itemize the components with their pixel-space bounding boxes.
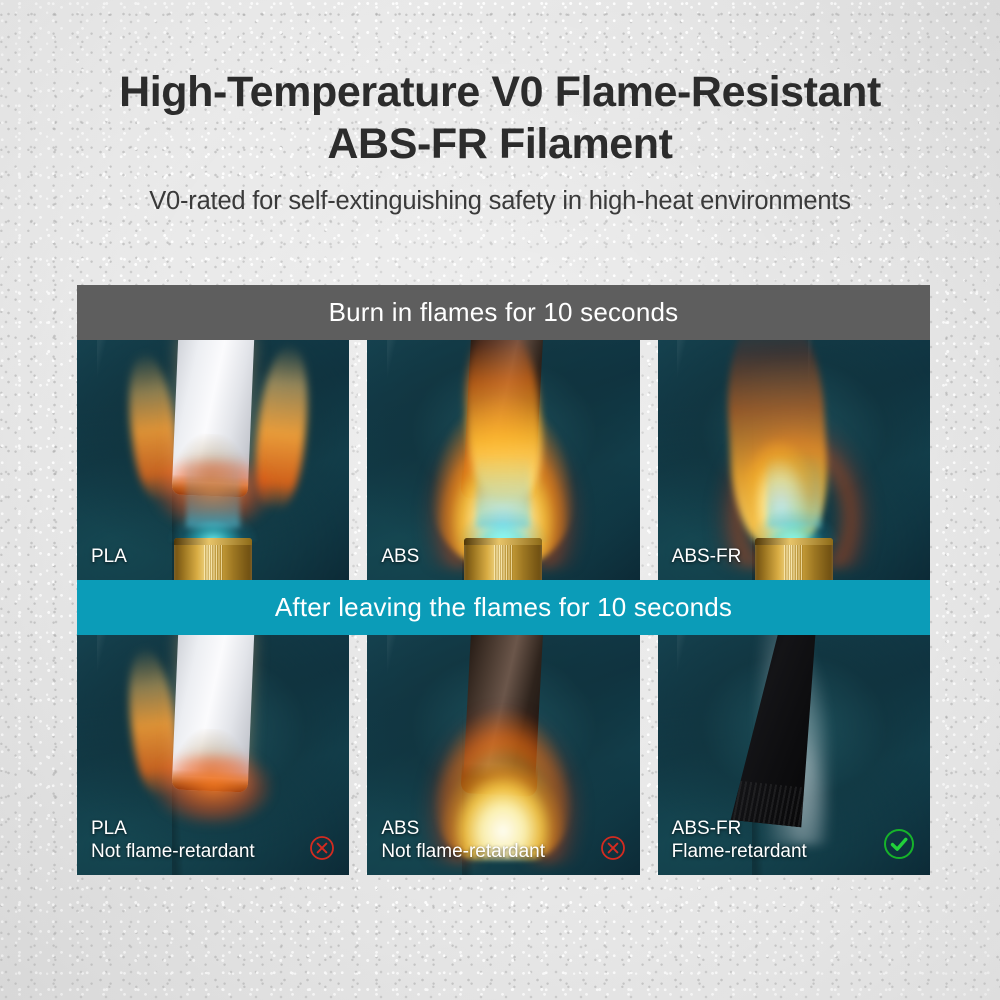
status-badge-fail: [309, 835, 335, 861]
panel-caption: PLA: [91, 545, 127, 568]
panel-material-label: PLA: [91, 818, 127, 839]
circle-x-icon: [600, 835, 626, 861]
panel-bottom-pla: PLA Not flame-retardant: [77, 635, 349, 875]
status-badge-fail: [600, 835, 626, 861]
burner-icon: [174, 538, 252, 580]
panel-row-burning: PLA ABS ABS-FR: [77, 340, 930, 580]
panel-status-label: Not flame-retardant: [381, 840, 545, 863]
panel-material-label: ABS: [381, 818, 419, 839]
page-title-line2: ABS-FR Filament: [0, 118, 1000, 170]
panel-top-abs-fr: ABS-FR: [658, 340, 930, 580]
panel-bottom-abs-fr: ABS-FR Flame-retardant: [658, 635, 930, 875]
panel-top-abs: ABS: [367, 340, 639, 580]
panel-material-label: ABS-FR: [672, 818, 742, 839]
status-badge-pass: [882, 827, 916, 861]
specimen-pla: [172, 635, 255, 793]
circle-x-icon: [309, 835, 335, 861]
page-subtitle: V0-rated for self-extinguishing safety i…: [0, 170, 1000, 216]
panel-caption: ABS-FR Flame-retardant: [672, 817, 807, 863]
page-title-line1: High-Temperature V0 Flame-Resistant: [0, 0, 1000, 118]
panel-status-label: Flame-retardant: [672, 840, 807, 863]
panel-caption: ABS Not flame-retardant: [381, 817, 545, 863]
panel-caption: ABS-FR: [672, 545, 742, 568]
panel-caption: ABS: [381, 545, 419, 568]
burner-flame-icon: [167, 508, 259, 542]
burner-flame-icon: [748, 508, 840, 542]
specimen-abs: [463, 635, 544, 795]
circle-check-icon: [882, 827, 916, 861]
panel-status-label: Not flame-retardant: [91, 840, 255, 863]
panel-material-label: ABS: [381, 546, 419, 567]
panel-caption: PLA Not flame-retardant: [91, 817, 255, 863]
burner-icon: [464, 538, 542, 580]
flame-test-comparison: Burn in flames for 10 seconds PLA: [77, 285, 930, 875]
panel-material-label: ABS-FR: [672, 546, 742, 567]
burner-icon: [755, 538, 833, 580]
page-title: High-Temperature V0 Flame-Resistant ABS-…: [0, 0, 1000, 170]
burner-flame-icon: [457, 508, 549, 542]
panel-material-label: PLA: [91, 546, 127, 567]
panel-row-after: PLA Not flame-retardant ABS Not flame-re…: [77, 635, 930, 875]
banner-burn-in-flames: Burn in flames for 10 seconds: [77, 285, 930, 340]
panel-bottom-abs: ABS Not flame-retardant: [367, 635, 639, 875]
panel-top-pla: PLA: [77, 340, 349, 580]
banner-after-leaving-flames: After leaving the flames for 10 seconds: [77, 580, 930, 635]
page-header: High-Temperature V0 Flame-Resistant ABS-…: [0, 0, 1000, 216]
